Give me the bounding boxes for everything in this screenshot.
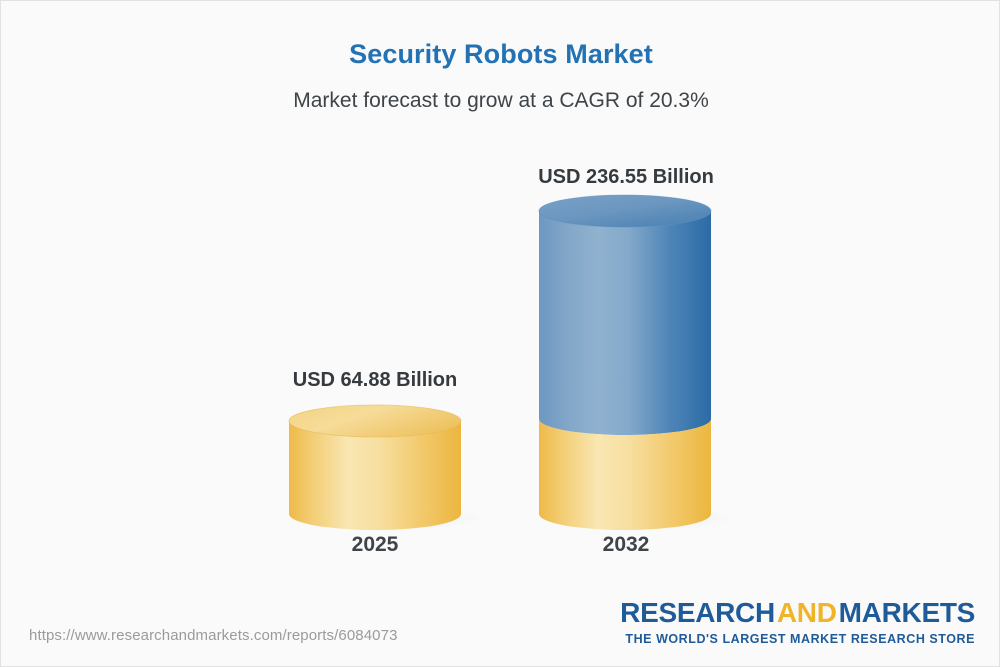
category-label-2032: 2032 xyxy=(526,533,726,557)
brand-tagline: THE WORLD'S LARGEST MARKET RESEARCH STOR… xyxy=(618,632,975,646)
bar-body-gold-2032 xyxy=(539,419,711,530)
brand-word-research: RESEARCH xyxy=(620,597,775,628)
bar-body-blue-2032 xyxy=(539,211,711,435)
plot-area: USD 64.88 Billion xyxy=(1,1,1000,667)
brand-word-and: AND xyxy=(777,597,837,628)
brand-logo[interactable]: RESEARCHANDMARKETS THE WORLD'S LARGEST M… xyxy=(618,599,975,646)
source-url[interactable]: https://www.researchandmarkets.com/repor… xyxy=(29,627,398,644)
category-label-2025: 2025 xyxy=(275,533,475,557)
bar-2032[interactable] xyxy=(527,191,737,536)
value-label-2032: USD 236.55 Billion xyxy=(500,166,752,189)
brand-wordmark: RESEARCHANDMARKETS xyxy=(618,599,975,627)
value-label-2025: USD 64.88 Billion xyxy=(249,369,501,392)
bar-2025[interactable] xyxy=(277,401,487,536)
brand-word-markets: MARKETS xyxy=(839,597,975,628)
chart-canvas: Security Robots Market Market forecast t… xyxy=(0,0,1000,667)
